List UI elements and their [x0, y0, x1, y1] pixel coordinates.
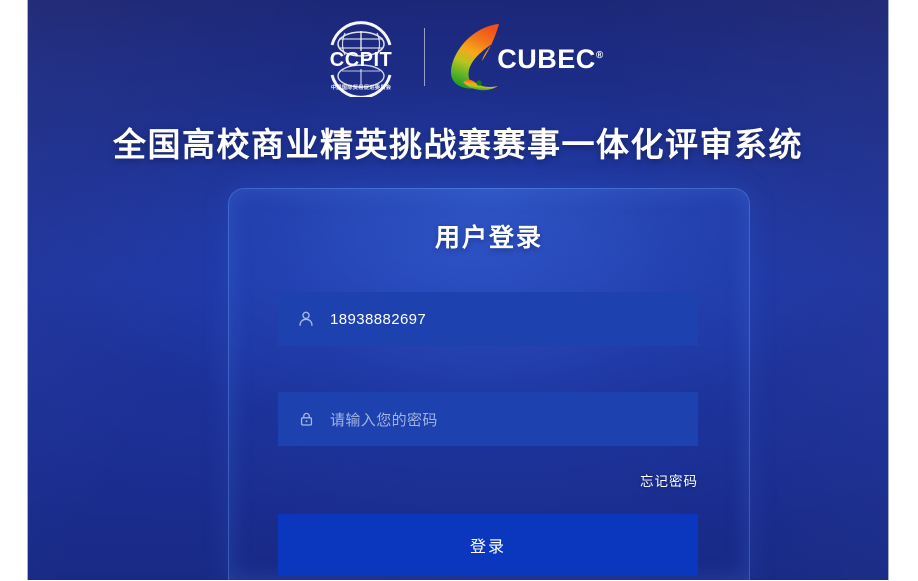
registered-trademark-icon: ® [596, 50, 604, 61]
login-submit-button[interactable]: 登录 [278, 514, 698, 576]
password-input-placeholder: 请输入您的密码 [330, 409, 438, 430]
cubec-wordmark: CUBEC® [497, 44, 603, 75]
password-input[interactable]: 请输入您的密码 [278, 392, 698, 446]
cubec-wordmark-text: CUBEC [497, 44, 596, 74]
username-field-wrapper[interactable]: 18938882697 [278, 292, 698, 346]
cubec-logo: CUBEC® [443, 17, 603, 97]
page-title: 全国高校商业精英挑战赛赛事一体化评审系统 [28, 118, 888, 166]
page-root: CCPIT 中国国际贸易促进委员会 [0, 0, 918, 581]
username-input-value: 18938882697 [330, 311, 426, 328]
login-card-title: 用户登录 [228, 218, 750, 254]
brand-logo-row: CCPIT 中国国际贸易促进委员会 [28, 14, 888, 100]
login-page-background: CCPIT 中国国际贸易促进委员会 [27, 0, 889, 580]
ccpit-subtitle: 中国国际贸易促进委员会 [331, 83, 392, 91]
login-card: 用户登录 18938882697 [228, 188, 750, 580]
forgot-password-link[interactable]: 忘记密码 [640, 470, 698, 490]
user-icon [296, 309, 316, 329]
lock-icon [296, 409, 316, 429]
ccpit-logo: CCPIT 中国国际贸易促进委员会 [312, 17, 410, 97]
svg-text:CCPIT: CCPIT [330, 49, 393, 71]
password-field-wrapper[interactable]: 请输入您的密码 [278, 392, 698, 446]
username-input[interactable]: 18938882697 [278, 292, 698, 346]
vertical-divider-icon [424, 28, 425, 86]
